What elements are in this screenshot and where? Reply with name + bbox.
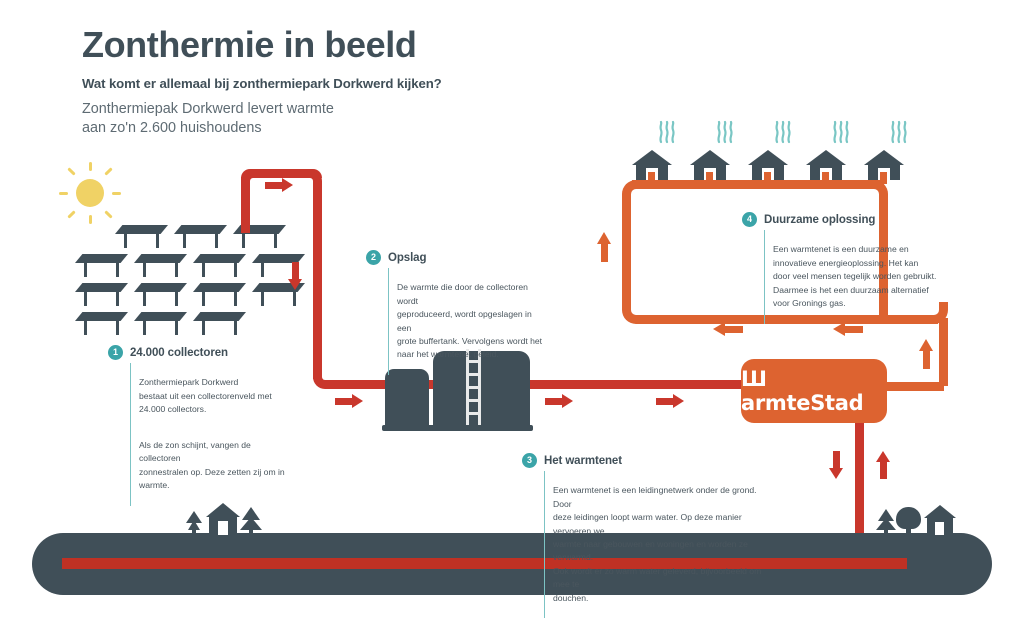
solar-panel (174, 225, 227, 248)
village-right (876, 503, 956, 535)
orange-pipe-plant-link (884, 382, 944, 391)
arrow-up-icon (597, 232, 612, 262)
callout-2: 2 Opslag De warmte die door de collector… (366, 250, 546, 375)
solar-panel (115, 225, 168, 248)
arrow-right-icon (265, 178, 293, 192)
steam-icon (890, 120, 908, 144)
header-block: Zonthermie in beeld Wat komt er allemaal… (82, 24, 602, 138)
solar-panel (134, 283, 187, 306)
callout-body: Een warmtenet is een leidingnetwerk onde… (544, 471, 772, 618)
arrow-right-icon (656, 394, 684, 408)
warmtestad-wordmark: armteStad (741, 391, 863, 415)
arrow-up-icon (919, 339, 934, 369)
arrow-right-icon (335, 394, 363, 408)
artboard: Zonthermie in beeld Wat komt er allemaal… (0, 0, 1024, 622)
callout-3: 3 Het warmtenet Een warmtenet is een lei… (522, 453, 772, 618)
callout-badge: 1 (108, 345, 123, 360)
steam-icon (658, 120, 676, 144)
steam-icon (832, 120, 850, 144)
callout-paragraph: Een warmtenet is een leidingnetwerk onde… (553, 484, 772, 605)
warmtestad-logo-text: ШarmteStad (741, 367, 887, 415)
solar-panel (193, 254, 246, 277)
solar-panel (193, 312, 246, 335)
callout-badge: 4 (742, 212, 757, 227)
warmtestad-logo[interactable]: ШarmteStad (741, 359, 887, 423)
underground-red-pipe (62, 558, 907, 569)
solar-panel (75, 283, 128, 306)
solar-panel (193, 283, 246, 306)
callout-paragraph: Een warmtenet is een duurzame en innovat… (773, 243, 942, 310)
solar-panel (134, 254, 187, 277)
callout-4: 4 Duurzame oplossing Een warmtenet is ee… (742, 212, 942, 324)
callout-body: Een warmtenet is een duurzame en innovat… (764, 230, 942, 324)
callout-title: Het warmtenet (544, 455, 622, 467)
page-lead-text: Zonthermiepak Dorkwerd levert warmte aan… (82, 100, 602, 138)
sun-icon (59, 162, 121, 224)
page-subtitle: Wat komt er allemaal bij zonthermiepark … (82, 76, 602, 91)
page-title: Zonthermie in beeld (82, 24, 602, 66)
village-left (186, 503, 258, 535)
arrow-right-icon (545, 394, 573, 408)
callout-title: 24.000 collectoren (130, 347, 228, 359)
orange-pipe-riser-to-plant (939, 318, 948, 386)
infographic-root: Zonthermie in beeld Wat komt er allemaal… (0, 0, 1024, 622)
callout-paragraph: De warmte die door de collectoren wordt … (397, 281, 546, 361)
callout-badge: 2 (366, 250, 381, 265)
callout-1: 1 24.000 collectoren Zonthermiepark Dork… (108, 345, 288, 506)
callout-paragraph: Als de zon schijnt, vangen de collectore… (139, 439, 288, 493)
steam-icon (716, 120, 734, 144)
callout-paragraph: Zonthermiepark Dorkwerd bestaat uit een … (139, 376, 288, 416)
callout-title: Opslag (388, 252, 426, 264)
arrow-left-icon (833, 322, 863, 337)
solar-panel (75, 312, 128, 335)
orange-pipe-left-descend (622, 196, 631, 310)
arrow-up-icon (876, 451, 890, 479)
callout-title: Duurzame oplossing (764, 214, 875, 226)
steam-icon (774, 120, 792, 144)
callout-body: De warmte die door de collectoren wordt … (388, 268, 546, 375)
arrow-left-icon (713, 322, 743, 337)
w-monogram-icon: Ш (741, 367, 765, 391)
solar-panel (134, 312, 187, 335)
callout-badge: 3 (522, 453, 537, 468)
solar-panel (75, 254, 128, 277)
callout-body: Zonthermiepark Dorkwerd bestaat uit een … (130, 363, 288, 506)
arrow-down-icon (829, 451, 843, 479)
orange-pipe-house-header (632, 180, 884, 189)
red-pipe-corner-topleft (241, 169, 259, 187)
red-pipe-descend (313, 181, 322, 379)
arrow-down-icon (288, 262, 302, 290)
